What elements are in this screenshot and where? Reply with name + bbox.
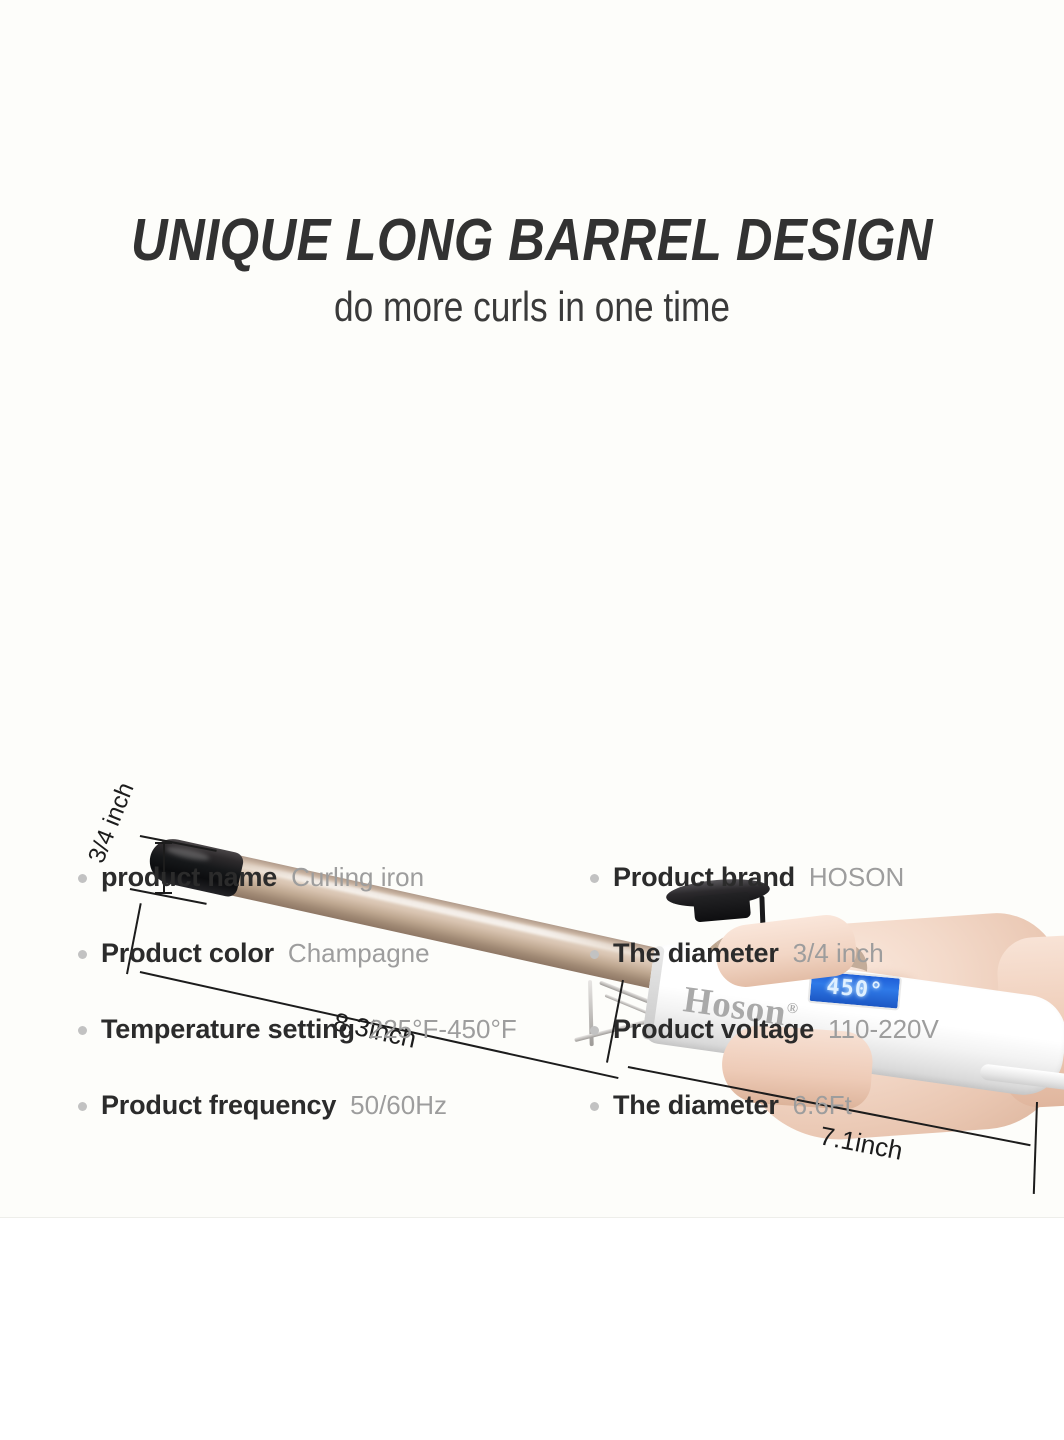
spec-value: 50/60Hz: [350, 1090, 447, 1120]
spec-row: Product voltage 110-220V: [590, 1014, 1040, 1090]
bullet-icon: [590, 950, 599, 959]
bullet-icon: [78, 1026, 87, 1035]
spec-value: 3/4 inch: [793, 938, 884, 968]
spec-label: The diameter: [613, 938, 779, 968]
infographic-page: UNIQUE LONG BARREL DESIGN do more curls …: [0, 0, 1064, 1440]
bullet-icon: [78, 950, 87, 959]
bullet-icon: [590, 1026, 599, 1035]
spec-row: product name Curling iron: [78, 862, 548, 938]
spec-label: Product frequency: [101, 1090, 336, 1120]
spec-label: Product voltage: [613, 1014, 814, 1044]
lower-panel: [0, 1218, 1064, 1440]
diameter-tick-top: [155, 842, 172, 844]
spec-row: The diameter 3/4 inch: [590, 938, 1040, 1014]
spec-value: HOSON: [809, 862, 904, 892]
spec-row: Product brand HOSON: [590, 862, 1040, 938]
product-photo: Hoson® 450° 3/4 inch 8.3inch 7.1in: [0, 380, 1064, 830]
spec-row: The diameter 6.6Ft: [590, 1090, 1040, 1166]
spec-row: Product color Champagne: [78, 938, 548, 1014]
bullet-icon: [78, 874, 87, 883]
spec-row: Temperature setting 225°F-450°F: [78, 1014, 548, 1090]
spec-label: product name: [101, 862, 277, 892]
spec-value: Curling iron: [291, 862, 424, 892]
spec-value: Champagne: [288, 938, 430, 968]
spec-value: 6.6Ft: [793, 1090, 852, 1120]
bullet-icon: [590, 1102, 599, 1111]
bullet-icon: [78, 1102, 87, 1111]
page-subtitle: do more curls in one time: [85, 281, 979, 333]
bullet-icon: [590, 874, 599, 883]
spec-label: Temperature setting: [101, 1014, 355, 1044]
spec-label: The diameter: [613, 1090, 779, 1120]
spec-row: Product frequency 50/60Hz: [78, 1090, 548, 1166]
spec-label: Product color: [101, 938, 274, 968]
spec-column-right: Product brand HOSON The diameter 3/4 inc…: [590, 862, 1040, 1166]
spec-value: 110-220V: [828, 1014, 939, 1044]
page-title: UNIQUE LONG BARREL DESIGN: [74, 206, 989, 274]
spec-label: Product brand: [613, 862, 795, 892]
spec-value: 225°F-450°F: [369, 1014, 517, 1044]
specification-list: product name Curling iron Product color …: [0, 862, 1064, 1162]
spec-column-left: product name Curling iron Product color …: [78, 862, 548, 1166]
